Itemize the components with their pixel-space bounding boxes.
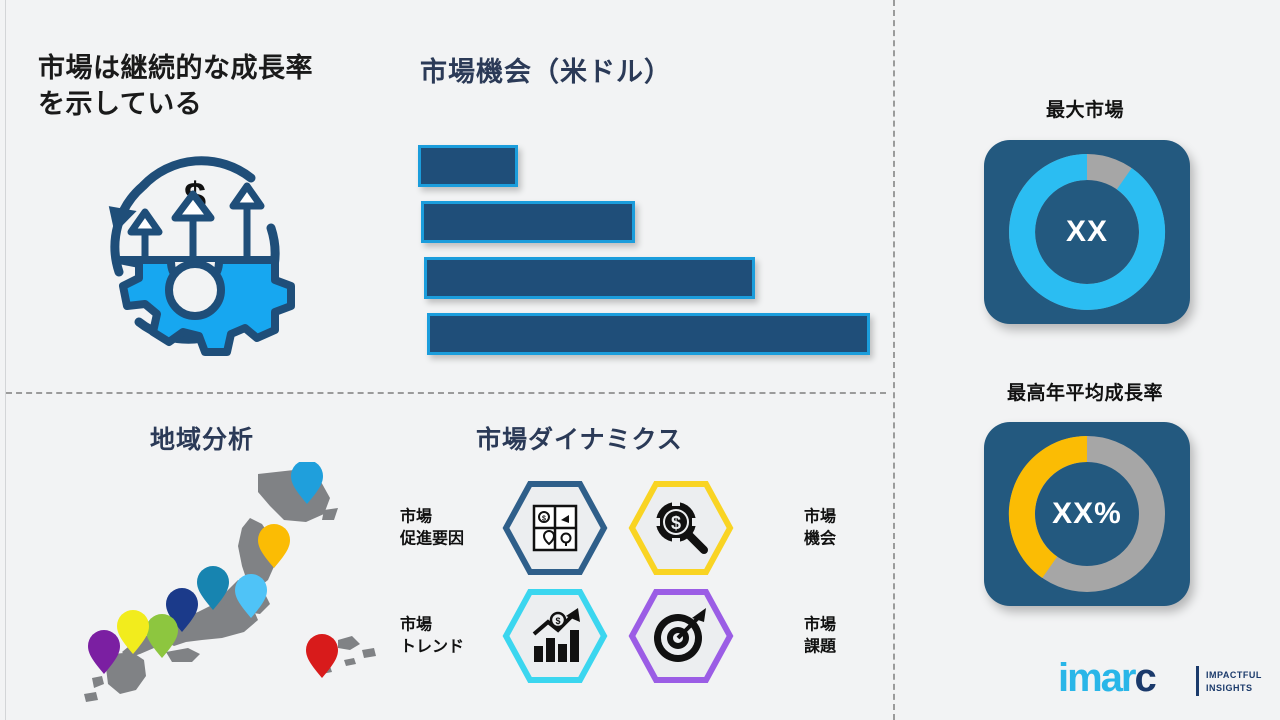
horizontal-dashed-divider <box>6 392 886 394</box>
left-edge-rule <box>5 0 6 720</box>
logo-tagline: IMPACTFUL INSIGHTS <box>1206 669 1262 695</box>
vertical-dashed-divider <box>893 0 895 720</box>
imarc-logo: imarc IMPACTFUL INSIGHTS <box>1058 660 1258 706</box>
donut-center-label: XX% <box>984 422 1190 606</box>
svg-text:$: $ <box>671 513 681 533</box>
bar-row <box>427 313 870 355</box>
hexagon-frame: $ <box>626 478 736 578</box>
svg-text:$: $ <box>542 516 546 523</box>
logo-wordmark: imarc <box>1058 658 1155 698</box>
hexagon-frame: $ <box>500 478 610 578</box>
logo-word-main: imar <box>1058 656 1135 700</box>
logo-divider <box>1196 666 1199 696</box>
market-dynamics-grid: 市場 促進要因 $ <box>398 478 838 690</box>
dynamics-label: 市場 課題 <box>804 614 836 657</box>
dynamics-item-drivers[interactable]: 市場 促進要因 $ <box>398 478 610 578</box>
donut-center-label: XX <box>984 140 1190 324</box>
donut-title-highest-cagr: 最高年平均成長率 <box>935 378 1235 405</box>
dynamics-item-trends[interactable]: 市場 トレンド $ <box>398 586 610 686</box>
puzzle-pieces-icon: $ <box>534 506 576 550</box>
hexagon-frame: $ <box>500 586 610 686</box>
dynamics-item-opportunities[interactable]: 市場 機会 $ <box>626 478 838 578</box>
donut-title-largest-market: 最大市場 <box>935 95 1235 122</box>
hexagon-frame <box>626 586 736 686</box>
opportunity-bar-chart <box>418 145 888 360</box>
bar-row <box>421 201 635 243</box>
dynamics-item-challenges[interactable]: 市場 課題 <box>626 586 838 686</box>
chart-title: 市場機会（米ドル） <box>420 50 840 89</box>
bar-row <box>418 145 518 187</box>
japan-map <box>62 462 382 702</box>
dynamics-label: 市場 トレンド <box>400 614 464 657</box>
dynamics-label: 市場 促進要因 <box>400 506 464 549</box>
logo-word-accent: c <box>1135 656 1155 700</box>
donut-card-largest-market: XX <box>984 140 1190 324</box>
slide-canvas: 市場は継続的な成長率 を示している $ 市場機会（米ドル） <box>0 0 1280 720</box>
market-dynamics-title: 市場ダイナミクス <box>476 420 683 456</box>
page-headline: 市場は継続的な成長率 を示している <box>38 50 388 123</box>
donut-card-highest-cagr: XX% <box>984 422 1190 606</box>
pin-okinawa <box>306 634 338 678</box>
region-analysis-title: 地域分析 <box>150 420 254 456</box>
svg-text:$: $ <box>555 616 560 626</box>
dynamics-label: 市場 機会 <box>804 506 836 549</box>
growth-gear-icon: $ <box>75 132 315 368</box>
bar-row <box>424 257 755 299</box>
